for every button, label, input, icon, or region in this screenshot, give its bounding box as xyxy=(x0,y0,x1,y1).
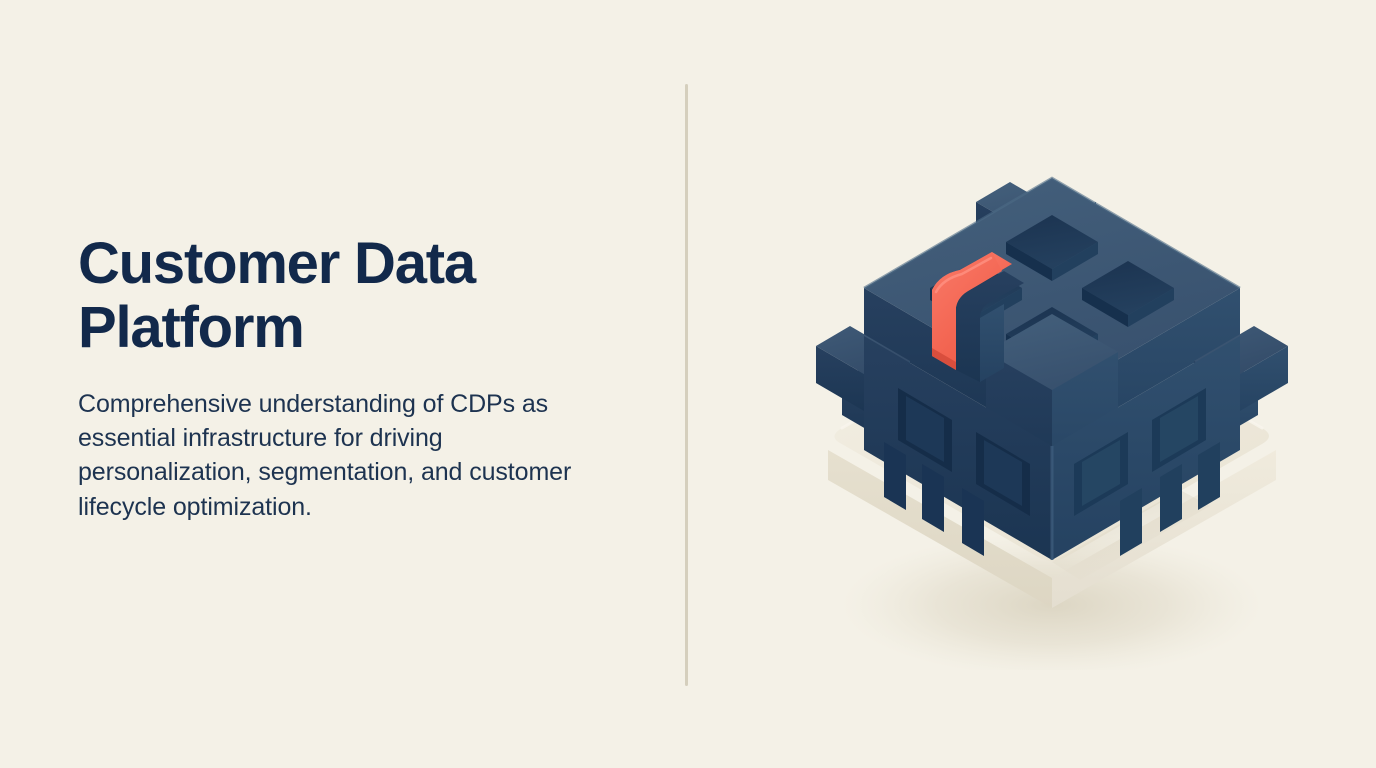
text-column: Customer Data Platform Comprehensive und… xyxy=(78,232,623,524)
isometric-cube-illustration xyxy=(780,150,1320,670)
page-title: Customer Data Platform xyxy=(78,232,623,361)
cube-svg xyxy=(780,150,1320,670)
slide-subtitle: Comprehensive understanding of CDPs as e… xyxy=(78,361,603,524)
slide-root: Customer Data Platform Comprehensive und… xyxy=(0,0,1376,768)
vertical-divider xyxy=(685,84,688,686)
